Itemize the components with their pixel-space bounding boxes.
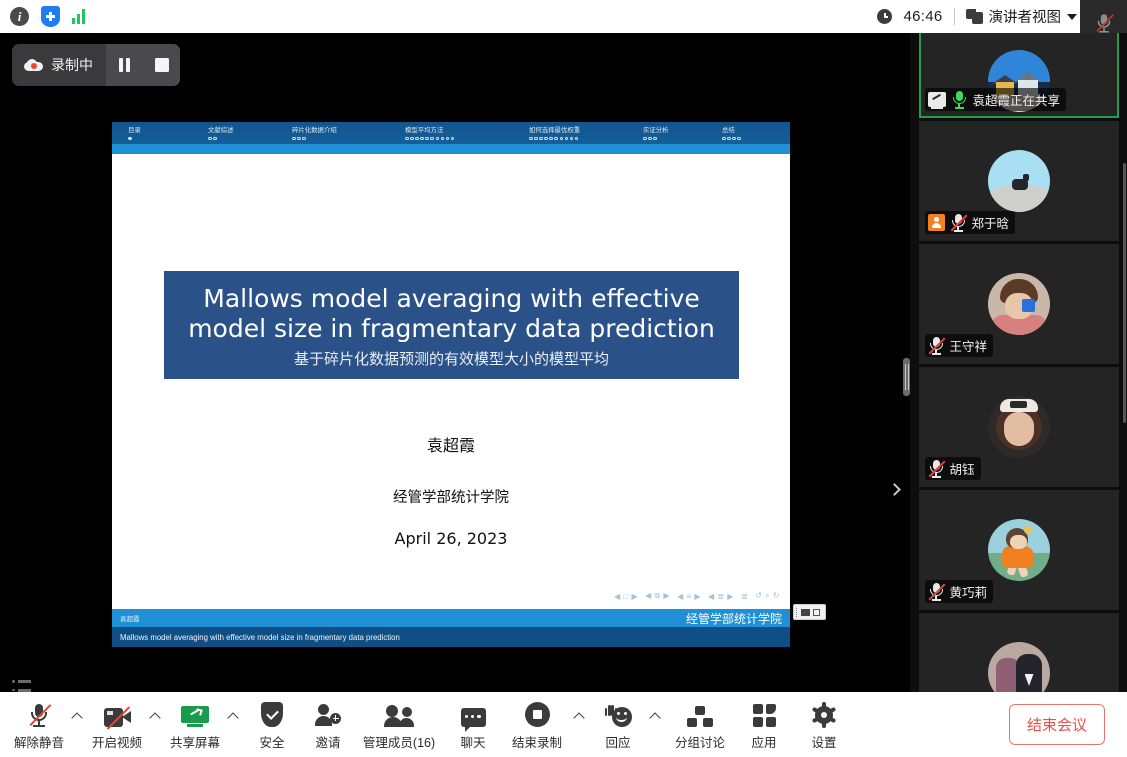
breakout-rooms-label: 分组讨论 [675,732,725,751]
security-button[interactable]: 安全 [244,697,300,753]
shield-icon [261,699,283,727]
nav-section[interactable]: 碎片化数据介绍 [292,126,405,154]
slide-title-en-line2: model size in fragmentary data predictio… [172,314,731,344]
breakout-rooms-icon [687,699,713,727]
chevron-down-icon [1067,14,1077,20]
nav-section[interactable]: 文献综述 [208,126,292,154]
participant-badge-row: 袁超霞正在共享 [925,88,1067,111]
slide-footer-bottom: Mallows model averaging with effective m… [112,627,790,647]
fullscreen-icon [813,609,820,616]
nav-section-label: 目录 [128,126,208,136]
slide-title-zh: 基于碎片化数据预测的有效模型大小的模型平均 [172,348,731,369]
chat-label: 聊天 [461,732,486,751]
microphone-muted-icon [928,336,945,355]
nav-section[interactable]: 目录 [128,126,208,154]
people-icon [384,699,414,727]
recording-status: 录制中 [12,55,106,75]
chat-button[interactable]: 聊天 [442,697,504,753]
invite-person-icon [315,699,341,727]
participant-scrollbar[interactable] [1123,163,1126,423]
participant-tile-sharing[interactable]: 袁超霞正在共享 [919,33,1119,118]
participant-name: 郑于晗 [972,213,1010,232]
stop-recording-button[interactable]: 结束录制 [504,697,570,753]
nav-section-label: 碎片化数据介绍 [292,126,405,136]
stop-recording-button[interactable] [143,44,180,86]
nav-section-label: 模型平均方法 [405,126,529,136]
participant-tile[interactable]: 黄巧莉 [919,490,1119,610]
nav-section-dots [128,137,208,141]
pause-icon [119,58,130,72]
top-bar-left-icons: i [0,6,85,27]
shared-screen-stage: 目录 文献综述 碎片化数据介绍 模型平均方法 如何选择最优权重 [0,112,910,692]
slide-date: April 26, 2023 [112,529,790,548]
beamer-nav-back[interactable]: ↺ ⌕ ↻ [755,591,780,601]
slide-body: Mallows model averaging with effective m… [112,154,790,609]
keyboard-icon [801,609,810,616]
audio-options-chevron-up-icon[interactable] [68,690,86,746]
recording-controls [106,44,180,86]
screen-share-icon [928,92,946,107]
slide-footer-author: 袁超霞 [120,613,140,623]
nav-section-dots [529,137,643,141]
view-mode-button[interactable]: 演讲者视图 [966,6,1078,27]
nav-section[interactable]: 总结 [722,126,741,154]
nav-section[interactable]: 模型平均方法 [405,126,529,154]
security-label: 安全 [260,732,285,751]
avatar [988,519,1050,581]
nav-section-dots [643,137,722,141]
beamer-nav-slide[interactable]: ◀ □ ▶ [614,592,638,601]
drag-grip-icon [796,608,798,617]
microphone-active-icon [951,90,968,109]
participant-video-pane: 袁超霞正在共享 郑于晗 [910,33,1127,692]
start-video-button[interactable]: 开启视频 [88,697,146,753]
chevron-right-icon[interactable] [886,476,902,502]
participant-name: 胡钰 [950,459,975,478]
apps-button[interactable]: 应用 [734,697,794,753]
start-video-label: 开启视频 [92,732,142,751]
nav-section[interactable]: 实证分析 [643,126,722,154]
share-options-chevron-up-icon[interactable] [224,690,242,746]
layout-icon [966,9,983,24]
reactions-icon [605,699,632,727]
stop-recording-label: 结束录制 [512,732,562,751]
clock-icon [877,9,892,24]
participant-name: 黄巧莉 [950,582,988,601]
invite-button[interactable]: 邀请 [300,697,356,753]
slide-footer-title: Mallows model averaging with effective m… [120,633,400,642]
nav-section-dots [722,137,741,141]
participant-tile-partial[interactable] [919,613,1119,692]
nav-section-dots [405,137,529,141]
avatar [988,150,1050,212]
participant-badge-row: 王守祥 [925,334,994,357]
annotation-toolbar[interactable] [793,604,826,620]
meeting-toolbar: 解除静音 开启视频 共享屏幕 安全 [0,692,1127,757]
participant-name: 王守祥 [950,336,988,355]
end-meeting-button[interactable]: 结束会议 [1009,704,1105,745]
nav-section-label: 如何选择最优权重 [529,126,643,136]
stop-recording-icon [525,699,550,727]
breakout-rooms-button[interactable]: 分组讨论 [666,697,734,753]
pause-recording-button[interactable] [106,44,143,86]
info-icon[interactable]: i [10,7,29,26]
slide-affiliation: 经管学部统计学院 [112,486,790,507]
nav-section-dots [292,137,405,141]
share-screen-icon [181,699,209,727]
participant-tile[interactable]: 郑于晗 [919,121,1119,241]
participant-badge-row: 胡钰 [925,457,981,480]
participant-tile[interactable]: 胡钰 [919,367,1119,487]
share-screen-label: 共享屏幕 [170,732,220,751]
nav-section-label: 实证分析 [643,126,722,136]
meeting-timer: 46:46 [903,8,942,25]
beamer-nav-section[interactable]: ◀ ≣ ▶ [708,592,734,601]
beamer-navigation-symbols: ◀ □ ▶ ◀ ⧉ ▶ ◀ ≡ ▶ ◀ ≣ ▶ ≣ ↺ ⌕ ↻ [614,591,780,601]
manage-participants-label: 管理成员(16) [363,732,435,751]
nav-section-dots [208,137,292,141]
slide-footer-org: 经管学部统计学院 [686,610,782,627]
invite-label: 邀请 [316,732,341,751]
divider [954,8,955,25]
recording-options-chevron-up-icon[interactable] [570,690,588,746]
microphone-muted-icon [950,213,967,232]
slide-footer-top: 袁超霞 经管学部统计学院 [112,609,790,627]
participant-tile[interactable]: 王守祥 [919,244,1119,364]
microphone-muted-icon [1095,13,1113,32]
participant-name: 袁超霞正在共享 [973,90,1061,109]
microphone-muted-icon [928,582,945,601]
avatar [988,642,1050,692]
camera-off-icon [104,699,131,727]
avatar [988,273,1050,335]
slide-title-en-line1: Mallows model averaging with effective [172,284,731,314]
recording-label: 录制中 [51,55,93,75]
nav-section-label: 总结 [722,126,741,136]
view-mode-label: 演讲者视图 [989,6,1062,27]
participant-badge-row: 黄巧莉 [925,580,994,603]
cloud-recording-icon [24,59,43,71]
sidebar-drag-handle[interactable] [903,358,910,396]
avatar [988,396,1050,458]
shield-plus-icon[interactable] [41,6,60,27]
manage-participants-button[interactable]: 管理成员(16) [356,697,442,753]
host-badge-icon [928,214,945,231]
reactions-button[interactable]: 回应 [590,697,646,753]
nav-section-label: 文献综述 [208,126,292,136]
microphone-muted-icon [28,699,50,727]
slide-author: 袁超霞 [112,432,790,456]
unmute-label: 解除静音 [14,732,64,751]
settings-button[interactable]: 设置 [794,697,854,753]
unmute-button[interactable]: 解除静音 [10,697,68,753]
chat-bubble-icon [461,699,486,727]
beamer-nav-subsection[interactable]: ◀ ≡ ▶ [677,592,701,601]
settings-label: 设置 [812,732,837,751]
video-options-chevron-up-icon[interactable] [146,690,164,746]
nav-section[interactable]: 如何选择最优权重 [529,126,643,154]
top-bar: i 46:46 演讲者视图 [0,0,1127,33]
presentation-slide: 目录 文献综述 碎片化数据介绍 模型平均方法 如何选择最优权重 [112,122,790,640]
zoom-meeting-window: i 46:46 演讲者视图 [0,0,1127,757]
beamer-nav-frame[interactable]: ◀ ⧉ ▶ [645,591,670,601]
gear-icon [812,699,836,727]
apps-icon [753,699,776,727]
participant-badge-row: 郑于晗 [925,211,1016,234]
reactions-label: 回应 [606,732,631,751]
share-screen-button[interactable]: 共享屏幕 [166,697,224,753]
beamer-nav-doc[interactable]: ≣ [741,592,748,601]
recording-indicator: 录制中 [12,44,180,86]
slide-title-block: Mallows model averaging with effective m… [164,271,739,379]
reactions-options-chevron-up-icon[interactable] [646,690,664,746]
slide-section-nav: 目录 文献综述 碎片化数据介绍 模型平均方法 如何选择最优权重 [112,122,790,154]
signal-bars-icon[interactable] [72,9,85,24]
apps-label: 应用 [752,732,777,751]
microphone-muted-icon [928,459,945,478]
stop-icon [155,58,169,72]
